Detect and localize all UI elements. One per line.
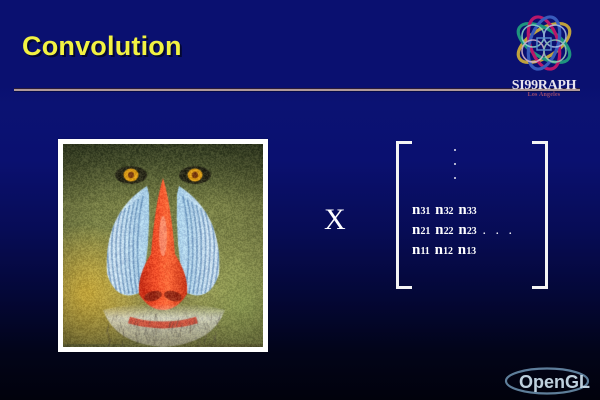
image-frame	[58, 139, 268, 352]
bracket-arm-bottom	[532, 286, 548, 289]
opengl-logo-icon: OpenGL .	[503, 366, 591, 396]
matrix-row: n11n12n13	[412, 241, 532, 261]
ellipsis-dot	[454, 149, 456, 151]
matrix-cell: n11	[412, 241, 430, 261]
svg-text:OpenGL: OpenGL	[519, 372, 590, 392]
slide-canvas: Convolution SI99RAPH Los Angeles	[0, 0, 600, 400]
page-title: Convolution	[22, 31, 182, 62]
matrix-row-ellipsis: . . .	[482, 221, 515, 240]
matrix-cell: n12	[435, 241, 453, 261]
siggraph-logo: SI99RAPH Los Angeles	[496, 10, 592, 102]
mandrill-image	[63, 144, 263, 347]
svg-text:.: .	[581, 380, 584, 391]
matrix-cell: n22	[435, 221, 453, 241]
siggraph-city-label: Los Angeles	[496, 92, 592, 98]
matrix-row: n21n22n23. . .	[412, 221, 532, 241]
matrix-cell: n31	[412, 201, 430, 221]
matrix-vertical-ellipsis	[412, 149, 498, 191]
matrix-cell: n21	[412, 221, 430, 241]
bracket-stem	[396, 141, 399, 289]
matrix-right-bracket	[532, 141, 548, 289]
opengl-logo: OpenGL .	[503, 366, 591, 396]
ellipsis-dot	[454, 177, 456, 179]
matrix-rows: n31n32n33n21n22n23. . .n11n12n13	[412, 201, 532, 261]
matrix-cell: n32	[435, 201, 453, 221]
matrix-body: n31n32n33n21n22n23. . .n11n12n13	[412, 141, 532, 289]
bracket-stem	[545, 141, 548, 289]
bracket-arm-bottom	[396, 286, 412, 289]
matrix-expression: n31n32n33n21n22n23. . .n11n12n13	[396, 141, 548, 289]
matrix-cell: n23	[458, 221, 476, 241]
matrix-cell: n13	[458, 241, 476, 261]
matrix-left-bracket	[396, 141, 412, 289]
multiplication-operator: X	[324, 205, 346, 235]
ellipsis-dot	[454, 163, 456, 165]
siggraph-rings-icon	[496, 10, 592, 76]
matrix-cell: n33	[458, 201, 476, 221]
matrix-row: n31n32n33	[412, 201, 532, 221]
